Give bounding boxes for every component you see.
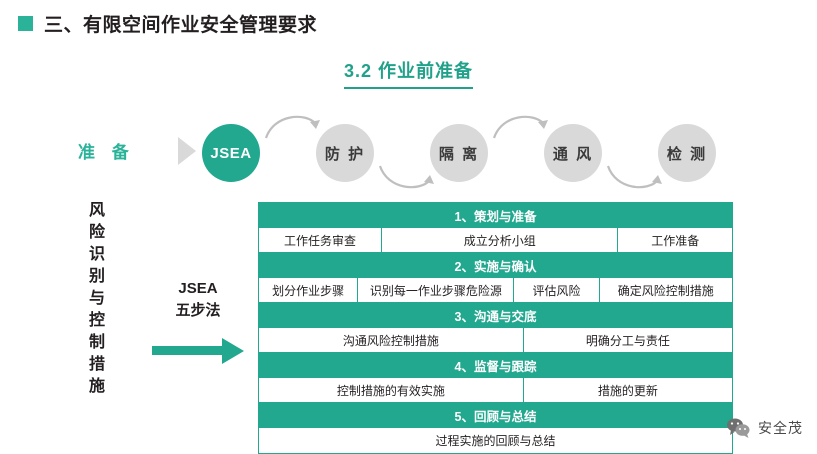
flow-curved-arrow-icon-3 bbox=[490, 108, 552, 144]
table-group-heading: 2、实施与确认 bbox=[259, 253, 732, 278]
jsea-arrow-head bbox=[222, 338, 244, 364]
flow-step-isolation: 隔 离 bbox=[430, 124, 488, 182]
table-cell: 过程实施的回顾与总结 bbox=[259, 428, 732, 453]
table-cell: 划分作业步骤 bbox=[259, 278, 358, 303]
flow-step-jsea: JSEA bbox=[202, 124, 260, 182]
header-bullet-square bbox=[18, 16, 33, 31]
flow-curved-arrow-icon-4 bbox=[604, 160, 666, 196]
table-group-header-row: 5、回顾与总结 bbox=[259, 403, 732, 428]
table-cell: 明确分工与责任 bbox=[524, 328, 732, 353]
wechat-icon bbox=[726, 417, 751, 438]
table-group-heading: 3、沟通与交底 bbox=[259, 303, 732, 328]
jsea-steps-table: 1、策划与准备工作任务审查成立分析小组工作准备2、实施与确认划分作业步骤识别每一… bbox=[258, 202, 733, 454]
table-group-header-row: 1、策划与准备 bbox=[259, 203, 732, 228]
flow-step-protection: 防 护 bbox=[316, 124, 374, 182]
slide-header: 三、有限空间作业安全管理要求 bbox=[18, 10, 317, 37]
table-row: 控制措施的有效实施措施的更新 bbox=[259, 378, 732, 403]
table-group-heading: 4、监督与跟踪 bbox=[259, 353, 732, 378]
table-group-header-row: 2、实施与确认 bbox=[259, 253, 732, 278]
flow-start-arrow-icon bbox=[178, 137, 196, 165]
table-row: 沟通风险控制措施明确分工与责任 bbox=[259, 328, 732, 353]
flow-curved-arrow-icon-2 bbox=[376, 160, 438, 196]
jsea-label-line2: 五步法 bbox=[150, 300, 246, 322]
process-flow: 准 备 JSEA 防 护 隔 离 通 风 检 测 bbox=[70, 110, 750, 195]
table-row: 划分作业步骤识别每一作业步骤危险源评估风险确定风险控制措施 bbox=[259, 278, 732, 303]
jsea-arrow-bar bbox=[152, 346, 224, 355]
table-group-heading: 5、回顾与总结 bbox=[259, 403, 732, 428]
watermark-text: 安全茂 bbox=[758, 418, 803, 438]
flow-curved-arrow-icon-1 bbox=[262, 108, 324, 144]
slide: 三、有限空间作业安全管理要求 3.2 作业前准备 准 备 JSEA 防 护 隔 … bbox=[0, 0, 817, 452]
table-cell: 确定风险控制措施 bbox=[600, 278, 732, 303]
page-title: 三、有限空间作业安全管理要求 bbox=[44, 10, 317, 37]
vertical-axis-label: 风险识别与控制措施 bbox=[84, 200, 110, 398]
table-cell: 成立分析小组 bbox=[382, 228, 619, 253]
table-cell: 识别每一作业步骤危险源 bbox=[358, 278, 514, 303]
flow-start-label: 准 备 bbox=[78, 138, 135, 163]
table-row: 工作任务审查成立分析小组工作准备 bbox=[259, 228, 732, 253]
jsea-five-step-label: JSEA 五步法 bbox=[150, 278, 246, 322]
table-group-header-row: 3、沟通与交底 bbox=[259, 303, 732, 328]
jsea-label-line1: JSEA bbox=[150, 278, 246, 300]
flow-step-ventilation: 通 风 bbox=[544, 124, 602, 182]
table-cell: 评估风险 bbox=[514, 278, 599, 303]
flow-step-detection: 检 测 bbox=[658, 124, 716, 182]
watermark: 安全茂 bbox=[726, 417, 803, 438]
table-group-header-row: 4、监督与跟踪 bbox=[259, 353, 732, 378]
table-cell: 沟通风险控制措施 bbox=[259, 328, 524, 353]
jsea-arrow-icon bbox=[152, 338, 248, 364]
table-cell: 工作准备 bbox=[618, 228, 732, 253]
table-cell: 控制措施的有效实施 bbox=[259, 378, 524, 403]
section-title: 3.2 作业前准备 bbox=[344, 57, 473, 89]
table-cell: 工作任务审查 bbox=[259, 228, 382, 253]
table-cell: 措施的更新 bbox=[524, 378, 732, 403]
table-row: 过程实施的回顾与总结 bbox=[259, 428, 732, 453]
table-group-heading: 1、策划与准备 bbox=[259, 203, 732, 228]
section-title-wrap: 3.2 作业前准备 bbox=[0, 57, 817, 89]
